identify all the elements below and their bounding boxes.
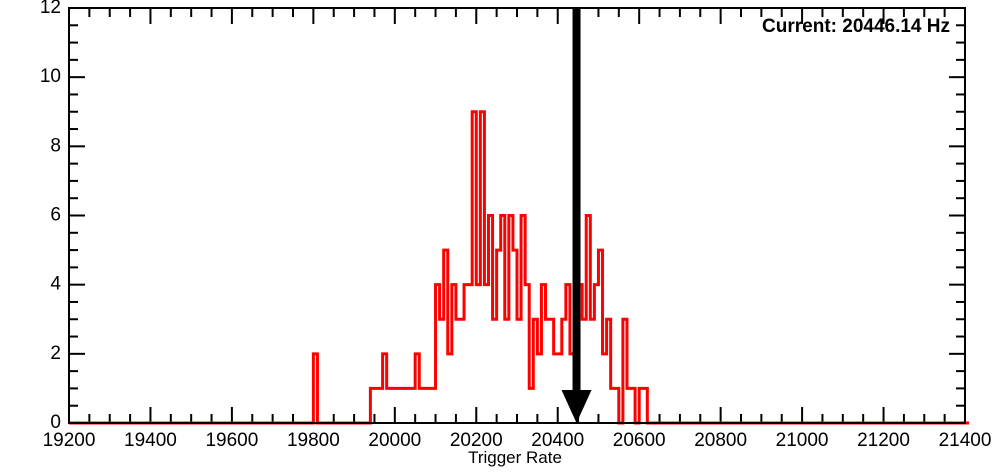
trigger-rate-histogram: 024681012 192001940019600198002000020200… xyxy=(0,0,996,472)
x-tick-label: 19800 xyxy=(287,430,340,451)
y-tick-label: 8 xyxy=(50,135,61,156)
x-tick-label: 21200 xyxy=(857,430,910,451)
x-tick-label: 19600 xyxy=(205,430,258,451)
x-tick-label: 20600 xyxy=(613,430,666,451)
x-tick-label: 20800 xyxy=(694,430,747,451)
y-tick-label: 4 xyxy=(50,274,61,295)
x-tick-label: 20000 xyxy=(368,430,421,451)
y-tick-label: 6 xyxy=(50,205,61,226)
y-tick-label: 10 xyxy=(40,66,61,87)
y-tick-label: 2 xyxy=(50,343,61,364)
x-tick-label: 19200 xyxy=(43,430,96,451)
x-tick-label: 21000 xyxy=(776,430,829,451)
current-value-label: Current: 20446.14 Hz xyxy=(762,16,950,37)
x-tick-label: 21400 xyxy=(939,430,992,451)
y-tick-label: 12 xyxy=(40,0,61,18)
x-tick-label: 19400 xyxy=(124,430,177,451)
x-axis-title: Trigger Rate xyxy=(468,448,562,467)
histogram-canvas: 024681012 192001940019600198002000020200… xyxy=(0,0,996,472)
plot-background xyxy=(0,0,996,472)
